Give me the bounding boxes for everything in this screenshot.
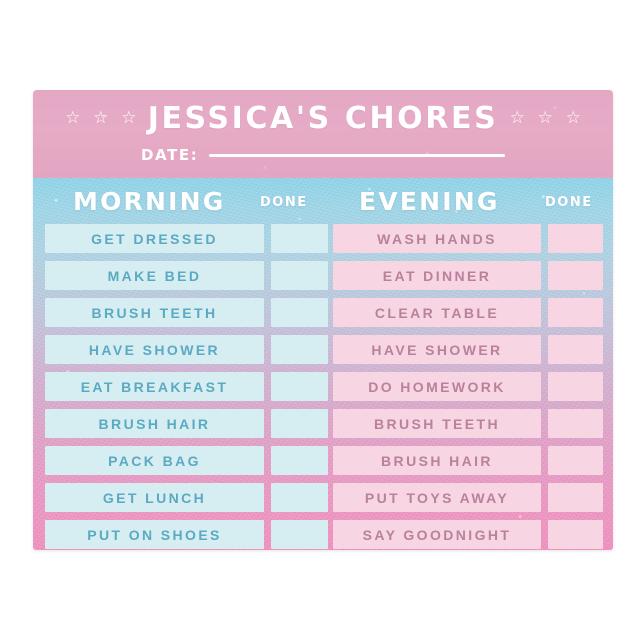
screenshot-canvas: ☆ ☆ ☆ JESSICA'S CHORES ☆ ☆ ☆ DATE: MORNI… xyxy=(0,0,644,644)
morning-done-checkbox[interactable] xyxy=(271,224,328,253)
task-row: GET DRESSEDWASH HANDS xyxy=(33,224,613,257)
morning-done-checkbox[interactable] xyxy=(271,483,328,512)
morning-task-label: BRUSH TEETH xyxy=(92,305,218,321)
morning-task-label: HAVE SHOWER xyxy=(89,342,220,358)
stars-left-group: ☆ ☆ ☆ xyxy=(65,110,137,126)
evening-done-checkbox[interactable] xyxy=(548,261,603,290)
morning-done-checkbox[interactable] xyxy=(271,298,328,327)
star-icon: ☆ xyxy=(509,110,525,126)
evening-task-label: DO HOMEWORK xyxy=(368,379,506,395)
morning-task-label: GET LUNCH xyxy=(103,490,206,506)
evening-task-cell: HAVE SHOWER xyxy=(333,335,541,364)
evening-task-label: BRUSH HAIR xyxy=(381,453,493,469)
evening-task-label: BRUSH TEETH xyxy=(374,416,500,432)
task-row: BRUSH HAIRBRUSH TEETH xyxy=(33,409,613,442)
morning-task-label: PACK BAG xyxy=(108,453,201,469)
morning-task-cell: BRUSH HAIR xyxy=(45,409,264,438)
morning-task-label: EAT BREAKFAST xyxy=(81,379,229,395)
evening-done-checkbox[interactable] xyxy=(548,483,603,512)
morning-task-label: PUT ON SHOES xyxy=(87,527,222,543)
evening-column-heading: EVENING xyxy=(359,187,500,216)
evening-done-checkbox[interactable] xyxy=(548,409,603,438)
morning-task-cell: MAKE BED xyxy=(45,261,264,290)
task-row: BRUSH TEETHCLEAR TABLE xyxy=(33,298,613,331)
task-row: PUT ON SHOESSAY GOODNIGHT xyxy=(33,520,613,550)
page-title: JESSICA'S CHORES xyxy=(148,101,499,136)
star-icon: ☆ xyxy=(537,110,553,126)
date-label: DATE: xyxy=(141,146,198,164)
evening-task-label: EAT DINNER xyxy=(383,268,492,284)
stars-right-group: ☆ ☆ ☆ xyxy=(509,110,581,126)
evening-done-checkbox[interactable] xyxy=(548,298,603,327)
morning-task-cell: BRUSH TEETH xyxy=(45,298,264,327)
evening-done-checkbox[interactable] xyxy=(548,520,603,549)
glitter-body: MORNING DONE EVENING DONE GET DRESSEDWAS… xyxy=(33,178,613,550)
evening-task-cell: PUT TOYS AWAY xyxy=(333,483,541,512)
date-row: DATE: xyxy=(33,140,613,170)
evening-task-label: CLEAR TABLE xyxy=(375,305,499,321)
morning-task-cell: GET LUNCH xyxy=(45,483,264,512)
morning-task-cell: EAT BREAKFAST xyxy=(45,372,264,401)
star-icon: ☆ xyxy=(565,110,581,126)
evening-task-cell: WASH HANDS xyxy=(333,224,541,253)
task-row: HAVE SHOWERHAVE SHOWER xyxy=(33,335,613,368)
title-row: ☆ ☆ ☆ JESSICA'S CHORES ☆ ☆ ☆ xyxy=(33,97,613,139)
morning-task-cell: PUT ON SHOES xyxy=(45,520,264,549)
morning-task-cell: HAVE SHOWER xyxy=(45,335,264,364)
evening-task-cell: DO HOMEWORK xyxy=(333,372,541,401)
evening-done-checkbox[interactable] xyxy=(548,224,603,253)
morning-task-label: BRUSH HAIR xyxy=(99,416,211,432)
evening-task-cell: BRUSH TEETH xyxy=(333,409,541,438)
task-row: MAKE BEDEAT DINNER xyxy=(33,261,613,294)
morning-done-checkbox[interactable] xyxy=(271,446,328,475)
chore-chart-notepad: ☆ ☆ ☆ JESSICA'S CHORES ☆ ☆ ☆ DATE: MORNI… xyxy=(33,90,613,550)
task-row: EAT BREAKFASTDO HOMEWORK xyxy=(33,372,613,405)
evening-task-cell: SAY GOODNIGHT xyxy=(333,520,541,549)
morning-done-checkbox[interactable] xyxy=(271,335,328,364)
evening-task-label: SAY GOODNIGHT xyxy=(363,527,512,543)
morning-task-cell: PACK BAG xyxy=(45,446,264,475)
evening-task-cell: BRUSH HAIR xyxy=(333,446,541,475)
morning-done-checkbox[interactable] xyxy=(271,520,328,549)
morning-done-checkbox[interactable] xyxy=(271,261,328,290)
morning-task-cell: GET DRESSED xyxy=(45,224,264,253)
morning-done-checkbox[interactable] xyxy=(271,409,328,438)
evening-done-heading: DONE xyxy=(545,195,593,210)
column-headers: MORNING DONE EVENING DONE xyxy=(33,178,613,224)
morning-task-label: GET DRESSED xyxy=(91,231,218,247)
task-row: GET LUNCHPUT TOYS AWAY xyxy=(33,483,613,516)
date-write-line[interactable] xyxy=(209,154,505,157)
evening-task-label: HAVE SHOWER xyxy=(371,342,502,358)
task-row: PACK BAGBRUSH HAIR xyxy=(33,446,613,479)
evening-task-cell: CLEAR TABLE xyxy=(333,298,541,327)
evening-done-checkbox[interactable] xyxy=(548,372,603,401)
evening-task-label: WASH HANDS xyxy=(377,231,497,247)
evening-task-cell: EAT DINNER xyxy=(333,261,541,290)
morning-done-heading: DONE xyxy=(260,195,308,210)
star-icon: ☆ xyxy=(121,110,137,126)
evening-task-label: PUT TOYS AWAY xyxy=(365,490,509,506)
evening-done-checkbox[interactable] xyxy=(548,446,603,475)
star-icon: ☆ xyxy=(65,110,81,126)
morning-done-checkbox[interactable] xyxy=(271,372,328,401)
task-rows-area: GET DRESSEDWASH HANDSMAKE BEDEAT DINNERB… xyxy=(33,224,613,550)
morning-task-label: MAKE BED xyxy=(108,268,202,284)
star-icon: ☆ xyxy=(93,110,109,126)
morning-column-heading: MORNING xyxy=(73,187,225,216)
chart-header-band: ☆ ☆ ☆ JESSICA'S CHORES ☆ ☆ ☆ DATE: xyxy=(33,90,613,178)
evening-done-checkbox[interactable] xyxy=(548,335,603,364)
